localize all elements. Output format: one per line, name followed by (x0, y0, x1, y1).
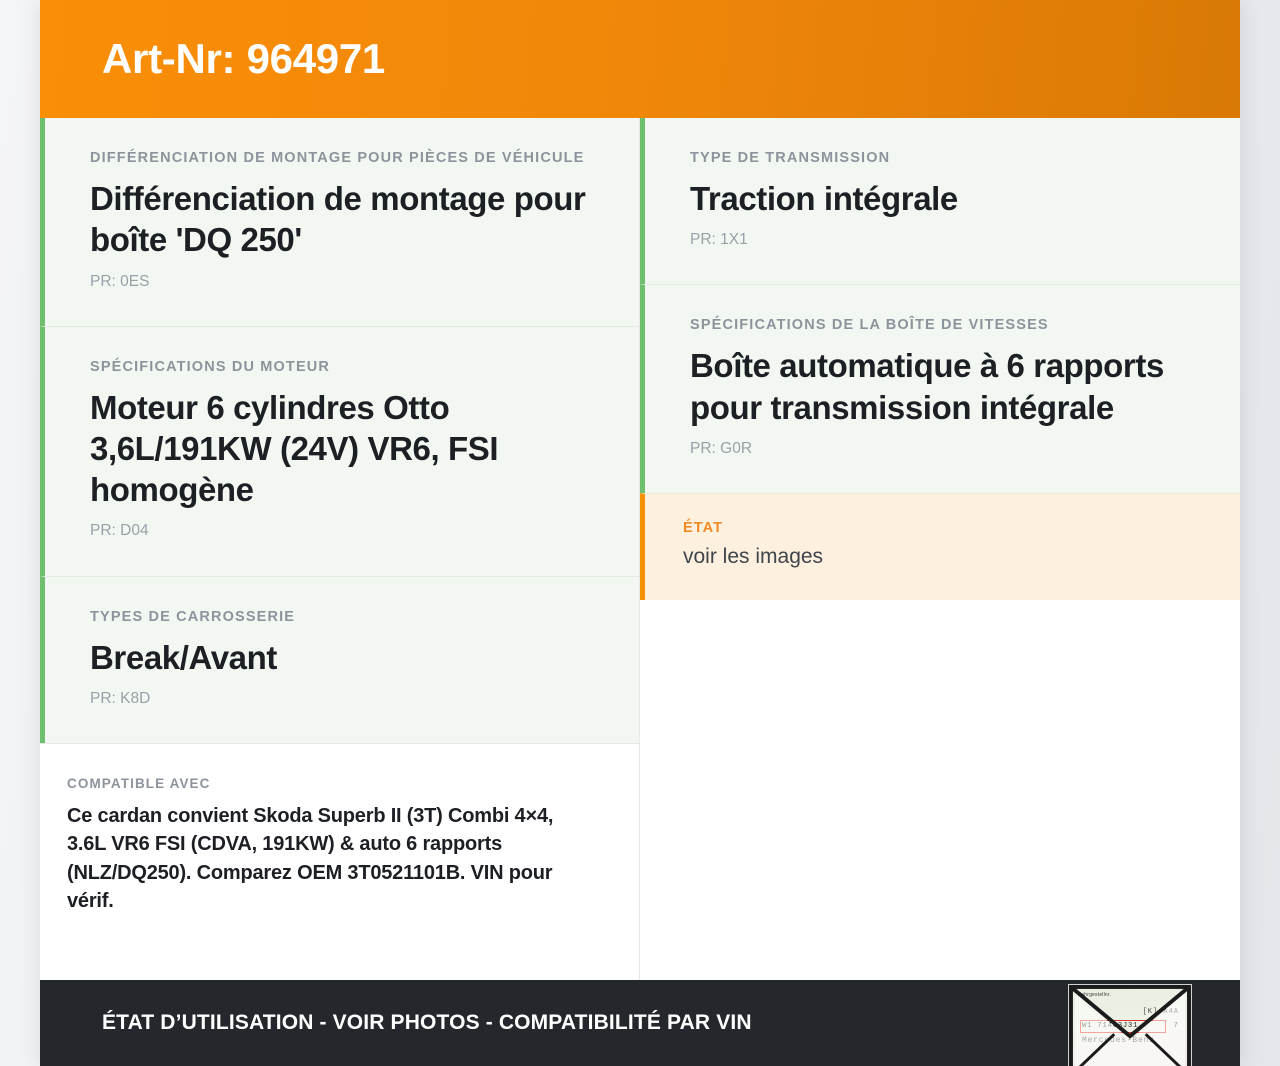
spec-pr-code: PR: G0R (690, 439, 1194, 459)
condition-value: voir les images (683, 543, 1194, 570)
footer-banner: ÉTAT D’UTILISATION - VOIR PHOTOS - COMPA… (40, 980, 1240, 1066)
spec-label: Types de carrosserie (90, 607, 593, 628)
spec-value: Différenciation de montage pour boîte 'D… (90, 178, 593, 261)
spec-value: Traction intégrale (690, 178, 1194, 219)
compatibility-block: Compatible avec Ce cardan convient Skoda… (40, 743, 639, 946)
footer-text: ÉTAT D’UTILISATION - VOIR PHOTOS - COMPA… (102, 1011, 752, 1035)
spec-card-drive-type[interactable]: Type de transmission Traction intégrale … (640, 118, 1240, 284)
spec-pr-code: PR: 1X1 (690, 230, 1194, 250)
spec-columns: Différenciation de montage pour pièces d… (40, 118, 1240, 980)
spec-value: Moteur 6 cylindres Otto 3,6L/191KW (24V)… (90, 387, 593, 511)
spec-value: Break/Avant (90, 637, 593, 678)
right-column: Type de transmission Traction intégrale … (640, 118, 1240, 980)
header-banner: Art-Nr: 964971 (40, 0, 1240, 118)
spec-card-body-type[interactable]: Types de carrosserie Break/Avant PR: K8D (40, 576, 639, 743)
spec-pr-code: PR: K8D (90, 689, 593, 709)
vin-document-thumbnail[interactable]: Fahrgestellnr. [K] A4A W1 71463J31 7 Mer… (1068, 984, 1192, 1066)
spec-pr-code: PR: D04 (90, 521, 593, 541)
left-column: Différenciation de montage pour pièces d… (40, 118, 640, 980)
condition-label: État (683, 520, 1194, 536)
spec-pr-code: PR: 0ES (90, 272, 593, 292)
spec-label: Différenciation de montage pour pièces d… (90, 148, 593, 169)
spec-card-mounting-differentiation[interactable]: Différenciation de montage pour pièces d… (40, 118, 639, 326)
condition-card[interactable]: État voir les images (640, 493, 1240, 600)
spec-label: Spécifications du moteur (90, 357, 593, 378)
right-column-filler (640, 600, 1240, 980)
spec-value: Boîte automatique à 6 rapports pour tran… (690, 345, 1194, 428)
spec-card-gearbox[interactable]: Spécifications de la boîte de vitesses B… (640, 284, 1240, 493)
compatibility-text: Ce cardan convient Skoda Superb II (3T) … (67, 802, 587, 916)
page-title: Art-Nr: 964971 (102, 36, 385, 82)
spec-label: Spécifications de la boîte de vitesses (690, 315, 1194, 336)
envelope-icon (1069, 985, 1191, 1066)
spec-card-engine[interactable]: Spécifications du moteur Moteur 6 cylind… (40, 326, 639, 576)
compatibility-label: Compatible avec (67, 776, 587, 791)
product-spec-sheet: Art-Nr: 964971 Différenciation de montag… (40, 0, 1240, 1066)
spec-label: Type de transmission (690, 148, 1194, 169)
